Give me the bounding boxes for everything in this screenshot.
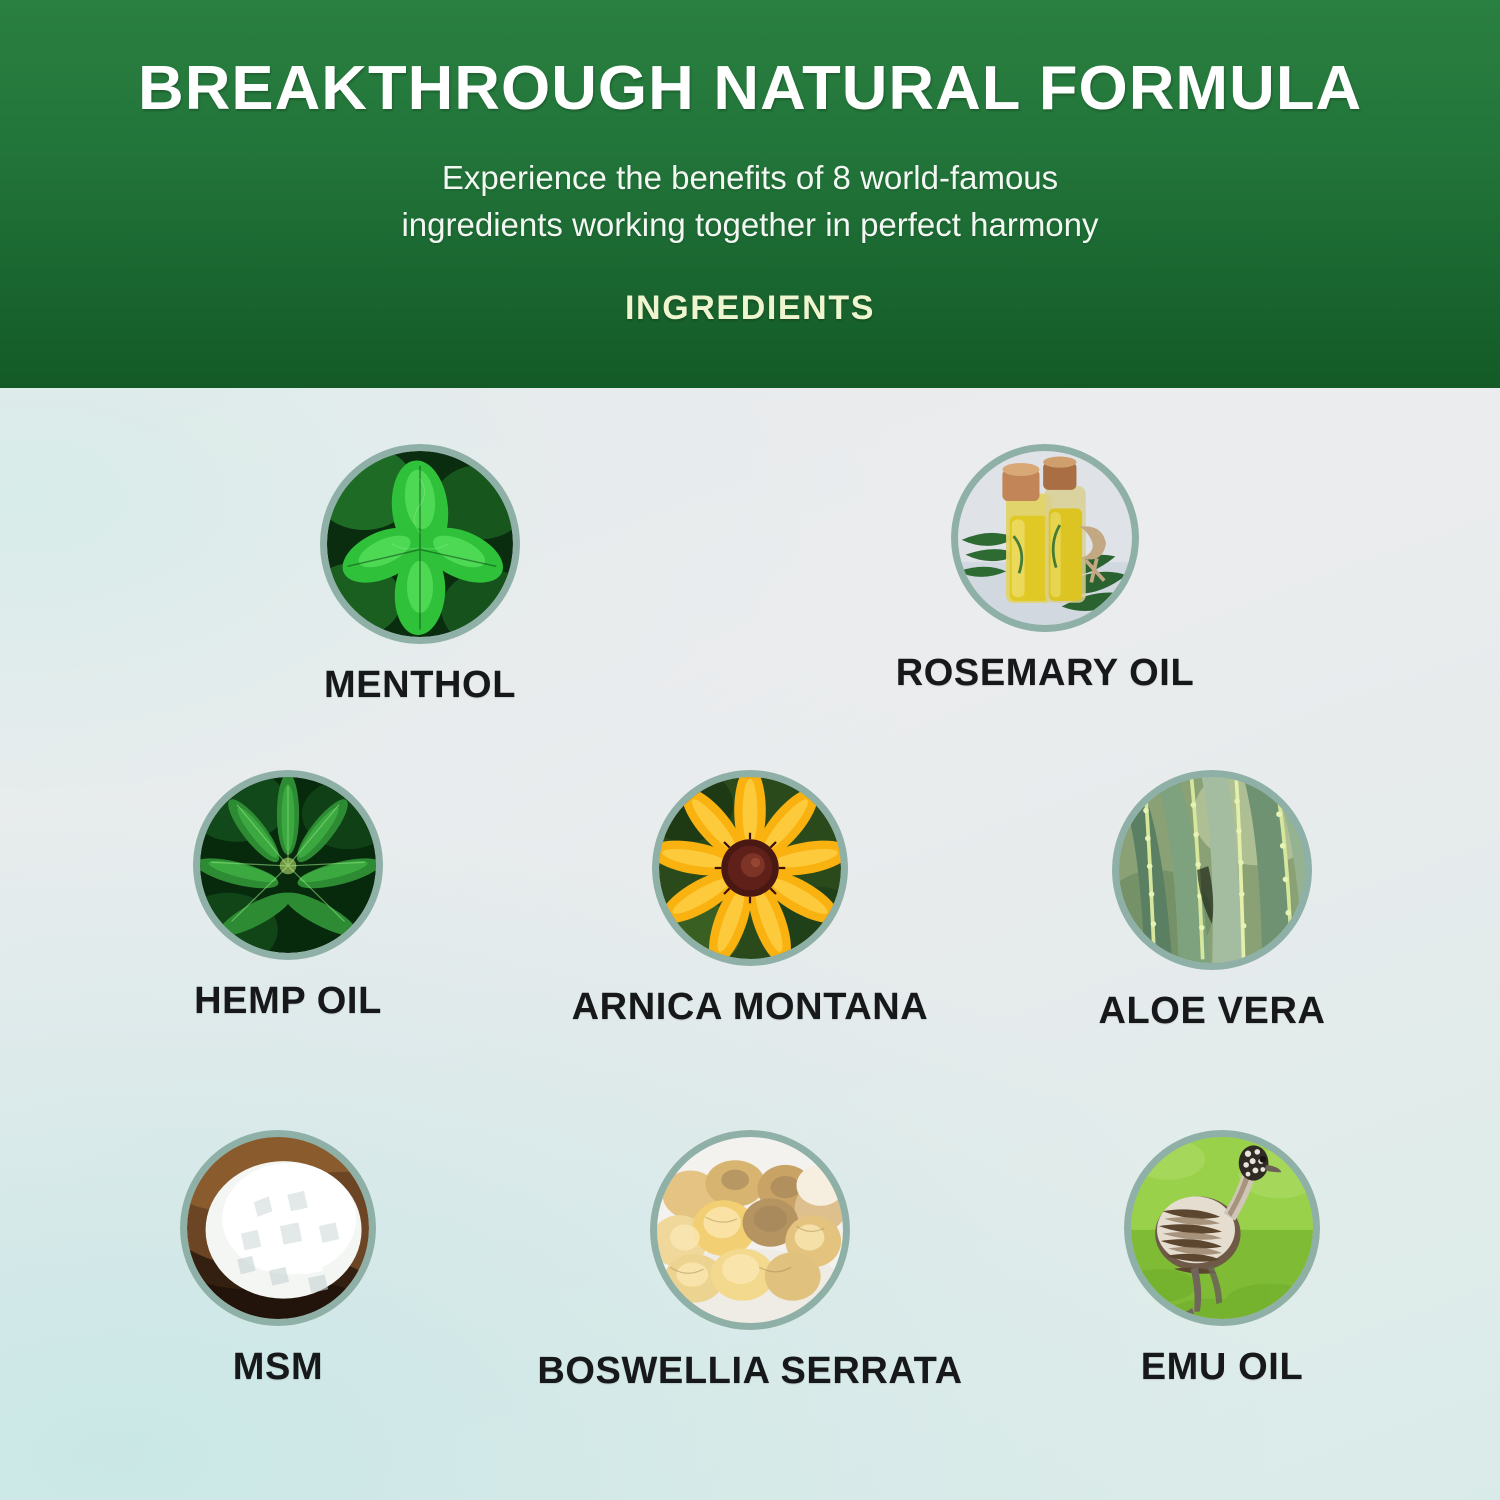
ingredient-item-boswellia-serrata[interactable]: BOSWELLIA SERRATA [540,1130,960,1393]
subtitle-line-2: ingredients working together in perfect … [401,202,1098,249]
ingredient-thumbnail[interactable] [650,1130,850,1330]
page-title: BREAKTHROUGH NATURAL FORMULA [138,56,1362,121]
ingredient-label: BOSWELLIA SERRATA [537,1350,962,1393]
ingredient-label: MENTHOL [324,664,516,707]
ingredient-item-msm[interactable]: MSM [128,1130,428,1393]
ingredient-label: MSM [233,1346,323,1389]
rosemary-oil-bottle-photo [958,451,1132,625]
subtitle-line-1: Experience the benefits of 8 world-famou… [401,155,1098,202]
mint-leaves-photo [327,451,513,637]
ingredient-label: ARNICA MONTANA [572,986,929,1029]
header-banner: BREAKTHROUGH NATURAL FORMULA Experience … [0,0,1500,388]
ingredient-thumbnail[interactable] [951,444,1139,632]
ingredient-row-2: HEMP OIL [0,770,1500,1033]
arnica-flower-photo [659,777,841,959]
ingredient-thumbnail[interactable] [180,1130,376,1326]
ingredient-thumbnail[interactable] [1112,770,1312,970]
ingredient-row-1: MENTHOL [0,444,1500,707]
ingredient-label: EMU OIL [1141,1346,1304,1389]
hemp-leaves-photo [200,777,376,953]
ingredient-label: HEMP OIL [194,980,382,1023]
ingredient-row-3: MSM [0,1130,1500,1393]
ingredient-item-arnica-montana[interactable]: ARNICA MONTANA [550,770,950,1033]
ingredient-item-rosemary-oil[interactable]: ROSEMARY OIL [885,444,1205,707]
emu-bird-photo [1131,1137,1313,1319]
ingredients-board: MENTHOL [0,388,1500,1500]
ingredient-label: ROSEMARY OIL [896,652,1195,695]
ingredient-thumbnail[interactable] [320,444,520,644]
ingredients-infographic: BREAKTHROUGH NATURAL FORMULA Experience … [0,0,1500,1500]
ingredient-thumbnail[interactable] [652,770,848,966]
aloe-vera-leaves-photo [1119,777,1305,963]
ingredient-item-emu-oil[interactable]: EMU OIL [1072,1130,1372,1393]
ingredient-item-menthol[interactable]: MENTHOL [295,444,545,707]
section-label-ingredients: INGREDIENTS [625,289,875,328]
boswellia-resin-photo [657,1137,843,1323]
ingredient-item-hemp-oil[interactable]: HEMP OIL [138,770,438,1033]
page-subtitle: Experience the benefits of 8 world-famou… [401,155,1098,249]
ingredient-label: ALOE VERA [1098,990,1325,1033]
msm-crystals-photo [187,1137,369,1319]
ingredient-thumbnail[interactable] [193,770,383,960]
ingredient-item-aloe-vera[interactable]: ALOE VERA [1062,770,1362,1033]
ingredient-thumbnail[interactable] [1124,1130,1320,1326]
